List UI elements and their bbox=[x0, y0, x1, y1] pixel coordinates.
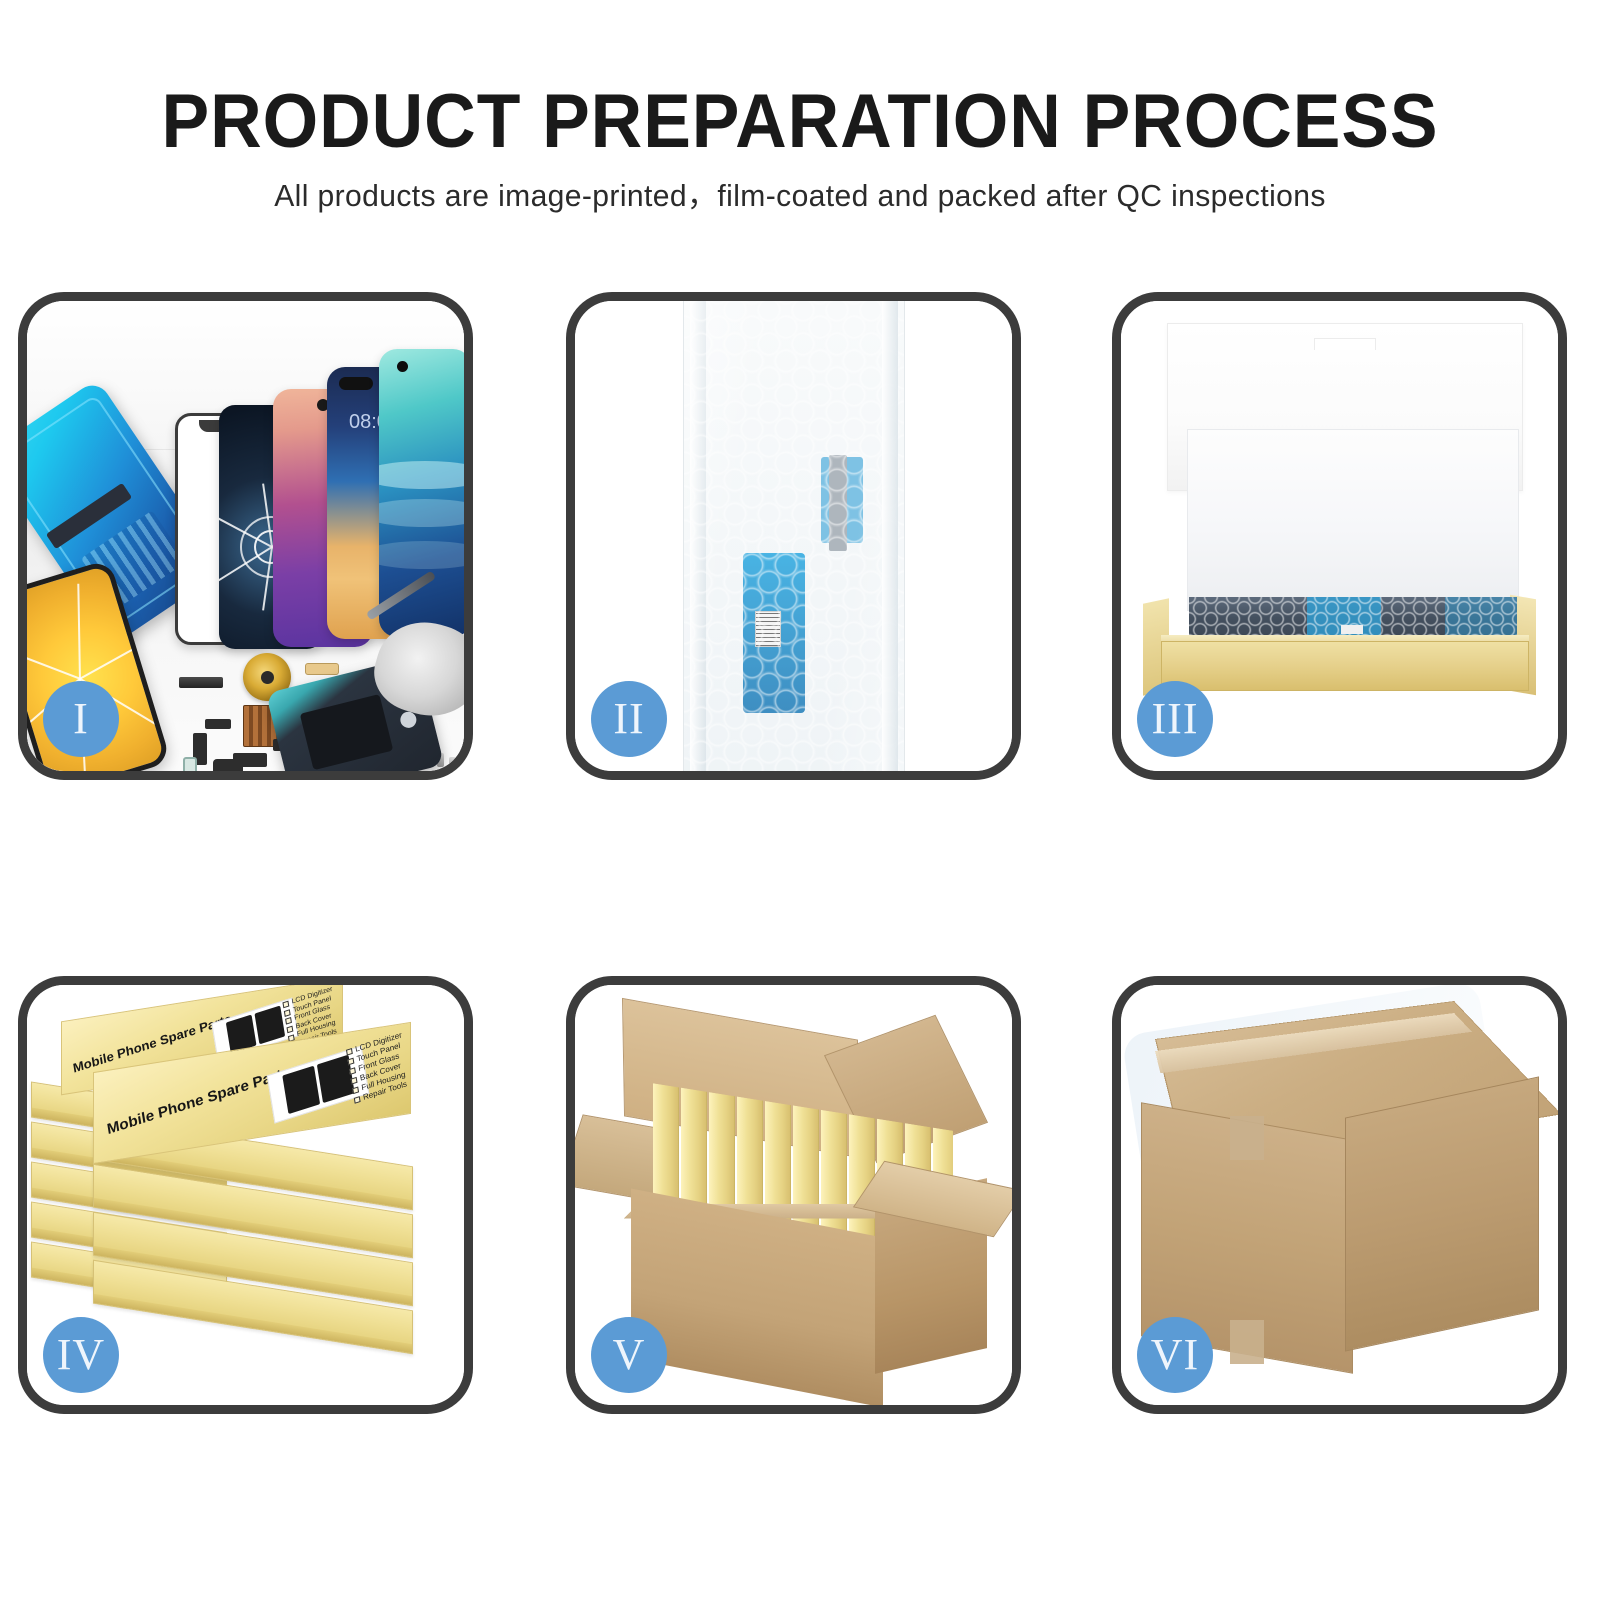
camera-hole-icon bbox=[397, 361, 408, 372]
step-badge-3: III bbox=[1137, 681, 1213, 757]
step-panel-5[interactable]: V bbox=[566, 976, 1021, 1414]
box-checklist: LCD Digitizer Touch Panel Front Glass Ba… bbox=[346, 1030, 411, 1105]
packing-tape-front bbox=[1230, 1320, 1264, 1364]
crack-icon bbox=[27, 644, 80, 680]
wallpaper-wave bbox=[379, 461, 464, 489]
gold-box-edge bbox=[709, 1092, 735, 1220]
step-panel-3[interactable]: III bbox=[1112, 292, 1567, 780]
earpiece-icon bbox=[213, 759, 243, 771]
step-panel-1[interactable]: 08:08 bbox=[18, 292, 473, 780]
sim-tray-icon bbox=[183, 757, 197, 771]
bubble-wrap-bag-icon bbox=[683, 301, 905, 771]
battery-icon bbox=[300, 694, 394, 770]
lid-tab-icon bbox=[1314, 338, 1376, 350]
packing-tape-front bbox=[1230, 1116, 1264, 1160]
crack-icon bbox=[77, 584, 81, 679]
step-panel-4[interactable]: Mobile Phone Spare Parts LCD Digitizer T… bbox=[18, 976, 473, 1414]
step-badge-4: IV bbox=[43, 1317, 119, 1393]
box-brand-label: Mobile Phone Spare Parts bbox=[106, 1064, 291, 1138]
box-base-icon bbox=[1161, 641, 1529, 691]
step-badge-5: V bbox=[591, 1317, 667, 1393]
wallpaper-wave bbox=[379, 541, 464, 569]
foam-liner-icon bbox=[1187, 429, 1519, 611]
board-connector-icon bbox=[179, 677, 223, 688]
gold-box-edge bbox=[821, 1110, 847, 1238]
plastic-sheen bbox=[684, 301, 904, 771]
product-process-infographic: PRODUCT PREPARATION PROCESS All products… bbox=[0, 0, 1600, 1600]
board-connector-icon bbox=[205, 719, 231, 729]
step-badge-2: II bbox=[591, 681, 667, 757]
step-badge-6: VI bbox=[1137, 1317, 1213, 1393]
gold-box-edge bbox=[681, 1088, 707, 1216]
steps-grid: 08:08 bbox=[0, 0, 1600, 1600]
step-panel-2[interactable]: II bbox=[566, 292, 1021, 780]
front-camera-pill-icon bbox=[339, 377, 373, 390]
gold-box-edge bbox=[653, 1083, 679, 1211]
step-panel-6[interactable]: VI bbox=[1112, 976, 1567, 1414]
barcode-label-icon bbox=[1341, 625, 1363, 634]
teal-display-icon bbox=[379, 349, 464, 637]
carton-right-face bbox=[1345, 1076, 1539, 1351]
wallpaper-wave bbox=[379, 499, 464, 527]
flex-cable-icon bbox=[305, 663, 339, 675]
step-badge-1: I bbox=[43, 681, 119, 757]
screw-icon bbox=[449, 757, 456, 771]
